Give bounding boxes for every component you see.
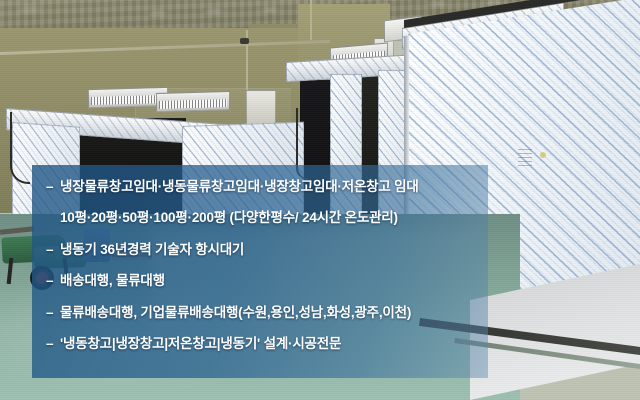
overlay-line-6-text: '냉동창고|냉장창고|저온창고|냉동기' 설계·시공전문 <box>60 336 341 353</box>
bullet-dash-4: – <box>46 273 60 290</box>
overlay-line-6: – '냉동창고|냉장창고|저온창고|냉동기' 설계·시공전문 <box>46 336 488 353</box>
bullet-dash-6: – <box>46 336 60 353</box>
overlay-line-5: – 물류배송대행, 기업물류배송대행(수원,용인,성남,화성,광주,이천) <box>46 305 488 322</box>
banner-image: – 냉장물류창고임대·냉동물류창고임대·냉장창고임대·저온창고 임대 10평·2… <box>0 0 640 400</box>
door-marker-dot <box>540 152 546 158</box>
door-label-sticker <box>518 148 532 166</box>
overlay-line-1: – 냉장물류창고임대·냉동물류창고임대·냉장창고임대·저온창고 임대 <box>46 179 488 196</box>
overlay-line-3: – 냉동기 36년경력 기술자 항시대기 <box>46 242 488 259</box>
electrical-box <box>246 90 276 126</box>
overlay-line-2: 10평·20평·50평·100평·200평 (다양한평수/ 24시간 온도관리) <box>46 210 488 227</box>
conduit-pipe-2 <box>310 0 312 40</box>
bullet-dash-5: – <box>46 305 60 322</box>
bullet-dash-3: – <box>46 242 60 259</box>
text-overlay-panel: – 냉장물류창고임대·냉동물류창고임대·냉장창고임대·저온창고 임대 10평·2… <box>32 165 488 378</box>
air-curtain-unit-2 <box>156 91 230 112</box>
overlay-line-4-text: 배송대행, 물류대행 <box>60 273 165 290</box>
overlay-line-3-text: 냉동기 36년경력 기술자 항시대기 <box>60 242 244 259</box>
hanging-cable <box>10 112 30 184</box>
security-camera <box>240 38 249 44</box>
overlay-line-5-text: 물류배송대행, 기업물류배송대행(수원,용인,성남,화성,광주,이천) <box>60 305 411 322</box>
overlay-line-2-text: 10평·20평·50평·100평·200평 (다양한평수/ 24시간 온도관리) <box>60 210 398 227</box>
overlay-line-1-text: 냉장물류창고임대·냉동물류창고임대·냉장창고임대·저온창고 임대 <box>60 179 419 196</box>
bullet-dash-1: – <box>46 179 60 196</box>
overlay-line-4: – 배송대행, 물류대행 <box>46 273 488 290</box>
